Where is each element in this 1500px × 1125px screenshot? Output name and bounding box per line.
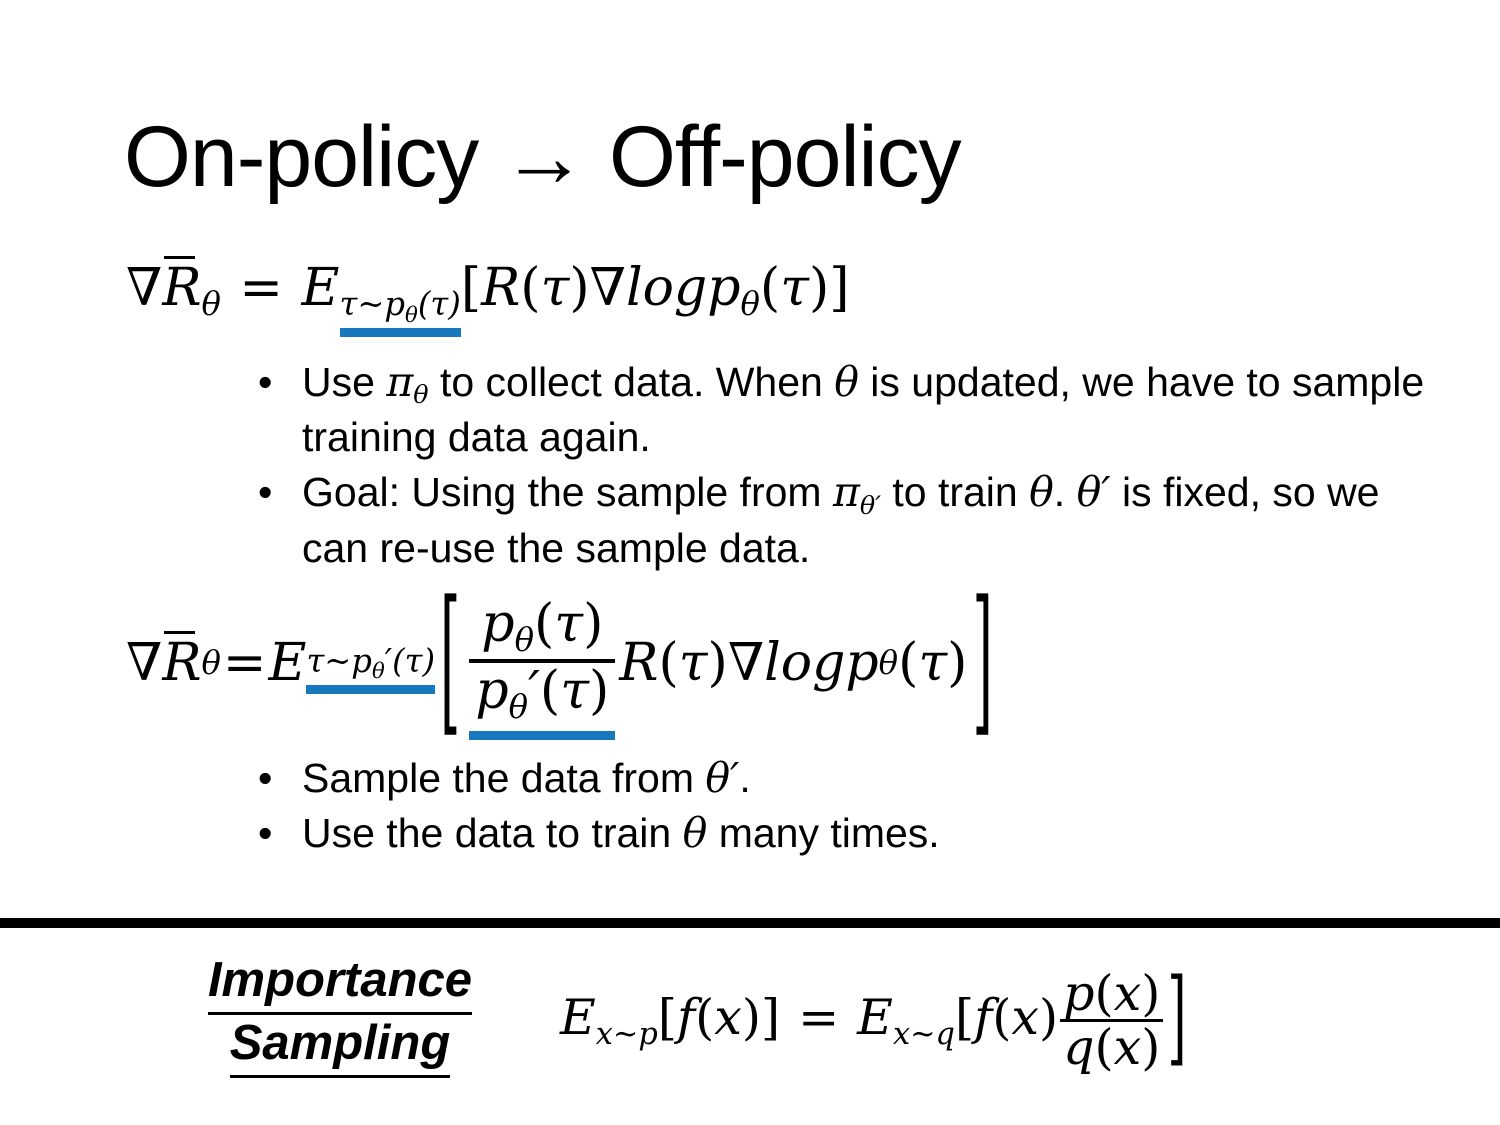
theta-symbol: θ: [1029, 468, 1054, 516]
probability-symbol: p: [707, 258, 740, 318]
fraction-denominator-underlined: pθ′(τ): [469, 659, 615, 724]
list-item-text: Use πθ to collect data. When θ is update…: [302, 356, 1438, 464]
paren-close-2: ): [1039, 989, 1058, 1046]
function-symbol-2: f: [974, 989, 992, 1046]
paren-open-2: (: [760, 258, 780, 318]
list-item-text: Use the data to train θ many times.: [302, 807, 1438, 860]
x-symbol-1: x: [714, 989, 742, 1046]
log-operator: log: [626, 258, 707, 318]
paren-close: ): [708, 633, 728, 693]
expectation-subscript-xq: x~q: [893, 1017, 955, 1052]
fraction-numerator: p(x): [1060, 969, 1163, 1019]
importance-weight-fraction: pθ(τ) pθ′(τ): [469, 598, 615, 724]
bracket-open: [: [461, 258, 481, 318]
theta-prime-symbol: θ′: [705, 754, 739, 802]
equation-importance-sampling: Ex~p[f(x)]=Ex~q[f(x) p(x) q(x) ]: [560, 970, 1189, 1073]
list-item: • Use the data to train θ many times.: [258, 807, 1438, 860]
paren-close: ): [569, 258, 589, 318]
expectation-symbol: E: [268, 633, 306, 693]
big-bracket-close: ]: [972, 571, 992, 754]
r-bar-symbol: R: [162, 633, 201, 693]
probability-symbol: p: [845, 633, 878, 693]
paren-open-1: (: [695, 989, 714, 1046]
list-item: • Sample the data from θ′.: [258, 752, 1438, 805]
bullet-list-bottom: • Sample the data from θ′. • Use the dat…: [258, 752, 1438, 863]
tau-symbol: τ: [679, 633, 708, 693]
nabla-symbol-2: ∇: [728, 633, 764, 693]
theta-subscript-2: θ: [740, 285, 759, 323]
expectation-subscript-underlined: τ~pθ′(τ): [306, 642, 435, 684]
nabla-symbol: ∇: [126, 633, 162, 693]
log-operator: log: [764, 633, 845, 693]
expectation-symbol-q: E: [857, 989, 893, 1046]
reward-symbol: R: [481, 258, 520, 318]
density-ratio-fraction: p(x) q(x): [1060, 969, 1163, 1072]
tau-symbol-2: τ: [780, 258, 809, 318]
expectation-symbol-p: E: [560, 989, 596, 1046]
paren-open-2: (: [898, 633, 918, 693]
list-item-text: Sample the data from θ′.: [302, 752, 1438, 805]
tau-symbol-2: τ: [918, 633, 947, 693]
bullet-marker-icon: •: [258, 807, 302, 860]
fraction-numerator: pθ(τ): [475, 598, 609, 659]
list-item: • Goal: Using the sample from πθ′ to tra…: [258, 466, 1438, 574]
paren-close-1: ): [742, 989, 761, 1046]
paren-close-2: ): [947, 633, 967, 693]
x-symbol-2: x: [1011, 989, 1039, 1046]
theta-prime-symbol: θ′: [1077, 468, 1111, 516]
paren-open: (: [520, 258, 540, 318]
bullet-marker-icon: •: [258, 466, 302, 519]
theta-subscript: θ: [201, 644, 220, 682]
paren-open-2: (: [992, 989, 1011, 1046]
label-line-2: Sampling: [130, 1015, 550, 1078]
paren-open: (: [658, 633, 678, 693]
bracket-open-2: [: [955, 989, 974, 1046]
theta-symbol: θ: [834, 358, 859, 406]
bracket-open-1: [: [658, 989, 677, 1046]
big-bracket-open: [: [440, 571, 460, 754]
importance-sampling-label: Importance Sampling: [130, 952, 550, 1078]
label-line-1: Importance: [130, 952, 550, 1015]
theta-symbol: θ: [683, 809, 708, 857]
list-item: • Use πθ to collect data. When θ is upda…: [258, 356, 1438, 464]
bullet-list-top: • Use πθ to collect data. When θ is upda…: [258, 356, 1438, 577]
equation-policy-gradient-on-policy: ∇Rθ = Eτ~pθ(τ)[R(τ)∇logpθ(τ)]: [126, 258, 850, 328]
bullet-marker-icon: •: [258, 356, 302, 409]
pi-theta-symbol: πθ: [386, 358, 428, 406]
horizontal-divider: [0, 918, 1500, 928]
paren-close-2: ): [809, 258, 829, 318]
nabla-symbol-2: ∇: [590, 258, 626, 318]
function-symbol-1: f: [677, 989, 695, 1046]
bracket-close-2: ]: [1167, 958, 1186, 1078]
expectation-subscript-xp: x~p: [596, 1017, 658, 1052]
bracket-close: ]: [829, 258, 849, 318]
nabla-symbol: ∇: [126, 258, 162, 318]
r-bar-symbol: R: [162, 258, 201, 318]
reward-symbol: R: [619, 633, 658, 693]
bullet-marker-icon: •: [258, 752, 302, 805]
theta-subscript-2: θ: [879, 644, 898, 682]
equals-sign: =: [237, 258, 285, 318]
page-title: On-policy → Off-policy: [124, 112, 1424, 202]
equals-sign: =: [221, 633, 269, 693]
tau-symbol: τ: [541, 258, 570, 318]
list-item-text: Goal: Using the sample from πθ′ to train…: [302, 466, 1438, 574]
expectation-subscript-underlined: τ~pθ(τ): [340, 285, 461, 327]
equals-sign: =: [796, 989, 841, 1046]
equation-policy-gradient-off-policy: ∇Rθ = Eτ~pθ′(τ)[ pθ(τ) pθ′(τ) R(τ)∇logpθ…: [126, 600, 998, 726]
slide-canvas: On-policy → Off-policy ∇Rθ = Eτ~pθ(τ)[R(…: [0, 0, 1500, 1125]
theta-subscript: θ: [201, 285, 220, 323]
bracket-close-1: ]: [761, 989, 780, 1046]
fraction-denominator: q(x): [1060, 1019, 1163, 1072]
pi-theta-prime-symbol: πθ′: [833, 468, 881, 516]
expectation-symbol: E: [302, 258, 340, 318]
